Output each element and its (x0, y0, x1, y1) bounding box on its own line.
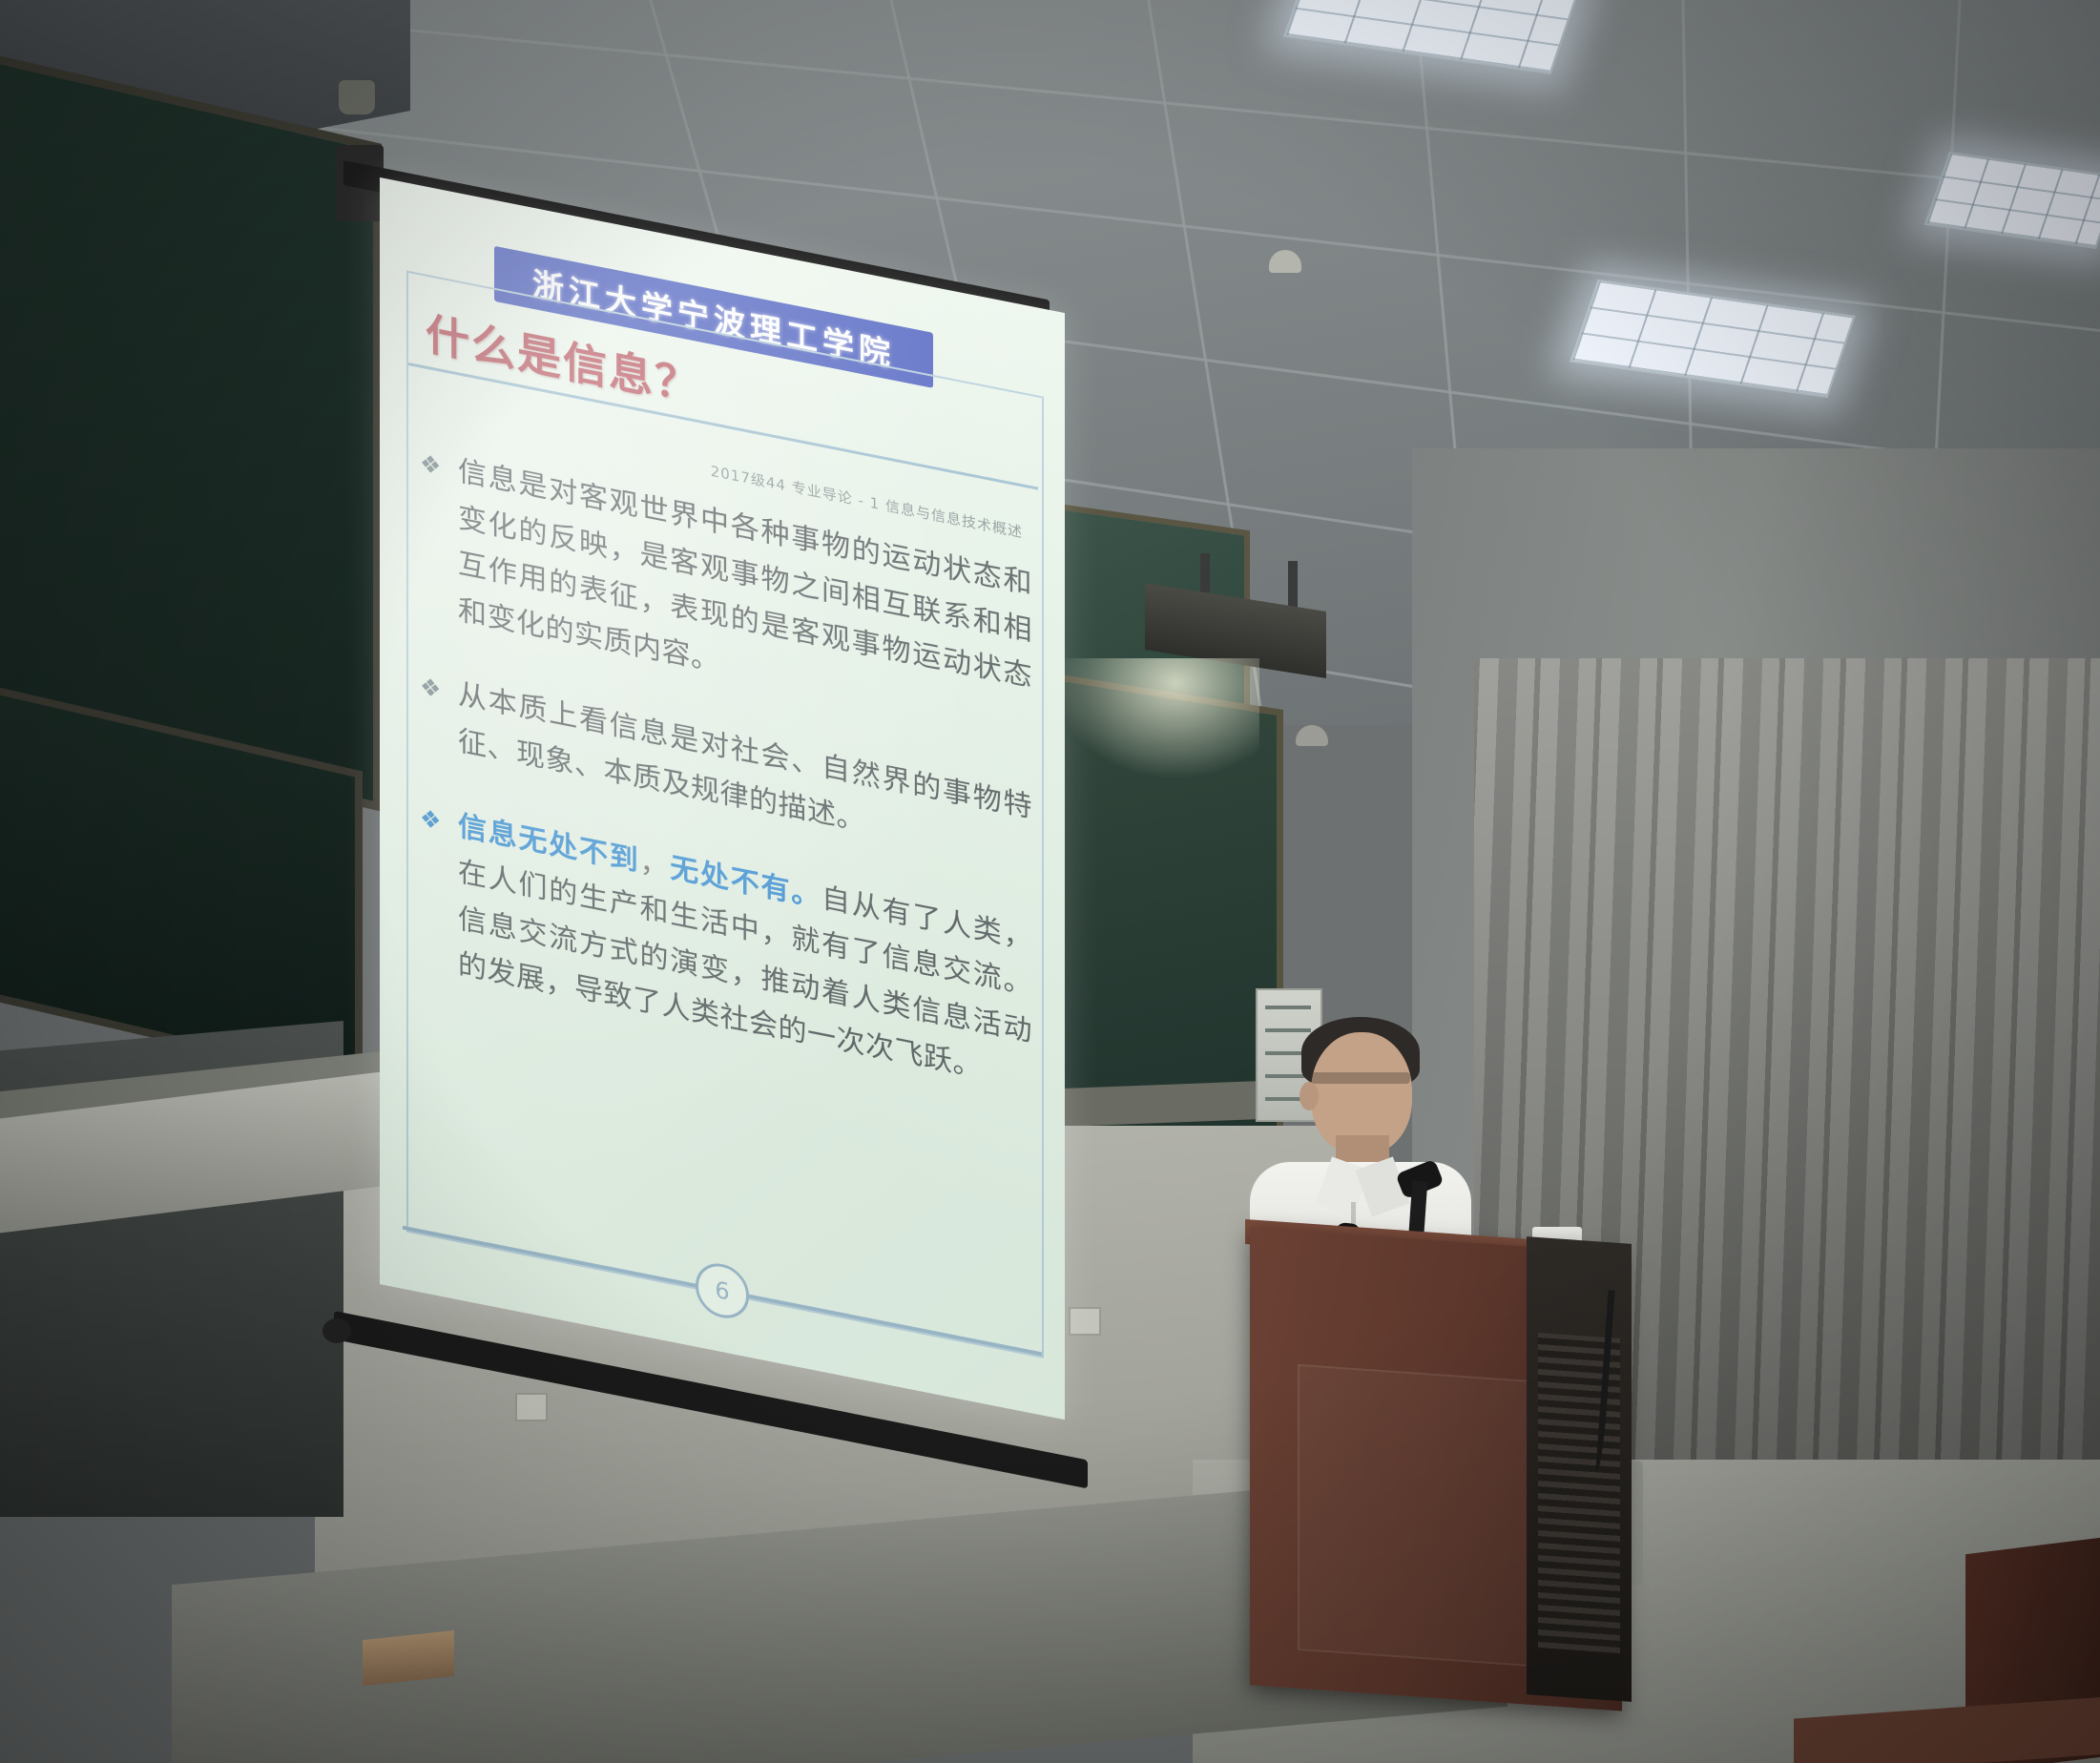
main-blackboard (0, 47, 382, 812)
presenter-eyeline (1311, 1072, 1410, 1084)
slide: 浙江大学宁波理工学院 什么是信息？ 2017级44 专业导论 - 1 信息与信息… (380, 177, 1065, 1420)
screen-pull-knob[interactable] (322, 1318, 351, 1343)
dome-camera-icon (1296, 725, 1328, 746)
bullet-separator: ， (640, 845, 671, 884)
slide-bullet-list: ❖ 信息是对客观世界中各种事物的运动状态和变化的反映，是客观事物之间相互联系和相… (414, 440, 1032, 1140)
cardboard-box (363, 1630, 454, 1686)
wall-socket[interactable] (1069, 1307, 1101, 1336)
projection-screen: 浙江大学宁波理工学院 什么是信息？ 2017级44 专业导论 - 1 信息与信息… (380, 177, 1065, 1420)
wall-socket[interactable] (515, 1393, 548, 1421)
diamond-bullet-icon: ❖ (420, 674, 441, 699)
presenter-ear (1300, 1082, 1319, 1110)
diamond-bullet-icon: ❖ (420, 450, 441, 475)
podium-front-panel (1298, 1364, 1536, 1667)
diamond-bullet-icon: ❖ (420, 805, 441, 830)
wall-speaker (339, 80, 375, 114)
lecture-hall-scene: 浙江大学宁波理工学院 什么是信息？ 2017级44 专业导论 - 1 信息与信息… (0, 0, 2100, 1763)
